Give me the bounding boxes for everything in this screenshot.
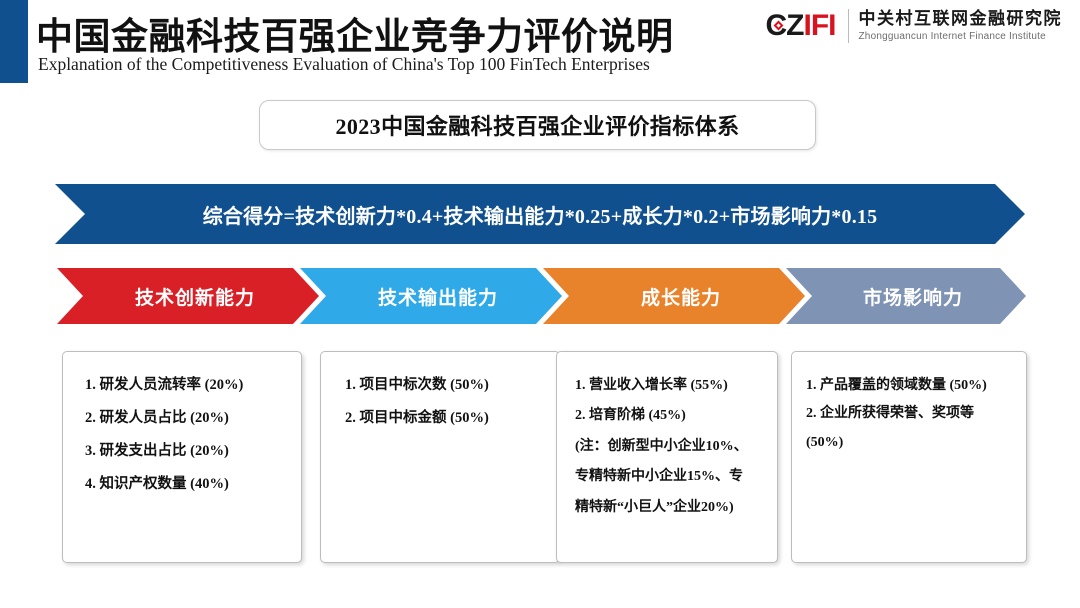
logo-mark-ifi: IFI [804, 11, 836, 41]
indicator-item: (50%) [806, 435, 1014, 450]
chevron-label: 技术输出能力 [378, 283, 498, 310]
logo-name-block: 中关村互联网金融研究院 Zhongguancun Internet Financ… [859, 10, 1063, 43]
indicator-item: 2. 研发人员占比 (20%) [85, 411, 289, 427]
score-formula-banner: 综合得分=技术创新力*0.4+技术输出能力*0.25+成长力*0.2+市场影响力… [55, 184, 1025, 244]
logo-divider [848, 9, 849, 43]
indicator-card-market-influence: 1. 产品覆盖的领域数量 (50%) 2. 企业所获得荣誉、奖项等 (50%) [791, 351, 1027, 563]
indicator-item: 1. 研发人员流转率 (20%) [85, 378, 289, 394]
indicator-item: 1. 项目中标次数 (50%) [345, 378, 547, 394]
indicator-note: (注：创新型中小企业10%、 [575, 439, 765, 454]
chevron-growth[interactable]: 成长能力 [543, 268, 805, 324]
indicator-card-technical-innovation: 1. 研发人员流转率 (20%) 2. 研发人员占比 (20%) 3. 研发支出… [62, 351, 302, 563]
indicator-item: 1. 营业收入增长率 (55%) [575, 378, 765, 393]
logo-wordmark: CZ IFI [766, 11, 836, 41]
slide-header: 中国金融科技百强企业竞争力评价说明 Explanation of the Com… [0, 0, 1080, 88]
page-title-zh: 中国金融科技百强企业竞争力评价说明 [36, 6, 674, 60]
chevron-label: 技术创新能力 [135, 283, 255, 310]
section-title-box: 2023中国金融科技百强企业评价指标体系 [259, 100, 816, 150]
chevron-market-influence[interactable]: 市场影响力 [786, 268, 1026, 324]
section-title-text: 2023中国金融科技百强企业评价指标体系 [335, 109, 739, 141]
logo-mark-cz: CZ [766, 11, 804, 41]
indicator-card-technical-output: 1. 项目中标次数 (50%) 2. 项目中标金额 (50%) [320, 351, 560, 563]
logo-name-en: Zhongguancun Internet Finance Institute [859, 31, 1063, 42]
slide-root: 中国金融科技百强企业竞争力评价说明 Explanation of the Com… [0, 0, 1080, 608]
indicator-note: 精特新“小巨人”企业20%) [575, 500, 765, 515]
page-title-en: Explanation of the Competitiveness Evalu… [38, 54, 650, 75]
chevron-technical-output[interactable]: 技术输出能力 [300, 268, 562, 324]
indicator-card-row: 1. 研发人员流转率 (20%) 2. 研发人员占比 (20%) 3. 研发支出… [0, 351, 1080, 566]
organization-logo: CZ IFI 中关村互联网金融研究院 Zhongguancun Internet… [766, 9, 1063, 43]
indicator-item: 2. 企业所获得荣誉、奖项等 [806, 406, 1014, 421]
header-accent-bar [0, 0, 28, 83]
indicator-item: 2. 培育阶梯 (45%) [575, 408, 765, 423]
indicator-card-growth: 1. 营业收入增长率 (55%) 2. 培育阶梯 (45%) (注：创新型中小企… [556, 351, 778, 563]
indicator-item: 3. 研发支出占比 (20%) [85, 444, 289, 460]
indicator-note: 专精特新中小企业15%、专 [575, 469, 765, 484]
chevron-technical-innovation[interactable]: 技术创新能力 [57, 268, 319, 324]
logo-name-zh: 中关村互联网金融研究院 [859, 10, 1063, 29]
score-formula-text: 综合得分=技术创新力*0.4+技术输出能力*0.25+成长力*0.2+市场影响力… [203, 200, 878, 229]
indicator-item: 2. 项目中标金额 (50%) [345, 411, 547, 427]
capability-chevron-row: 技术创新能力 技术输出能力 成长能力 市场影响力 [0, 268, 1080, 324]
indicator-item: 4. 知识产权数量 (40%) [85, 477, 289, 493]
indicator-item: 1. 产品覆盖的领域数量 (50%) [806, 378, 1014, 393]
chevron-label: 市场影响力 [863, 283, 963, 310]
chevron-label: 成长能力 [641, 283, 721, 310]
